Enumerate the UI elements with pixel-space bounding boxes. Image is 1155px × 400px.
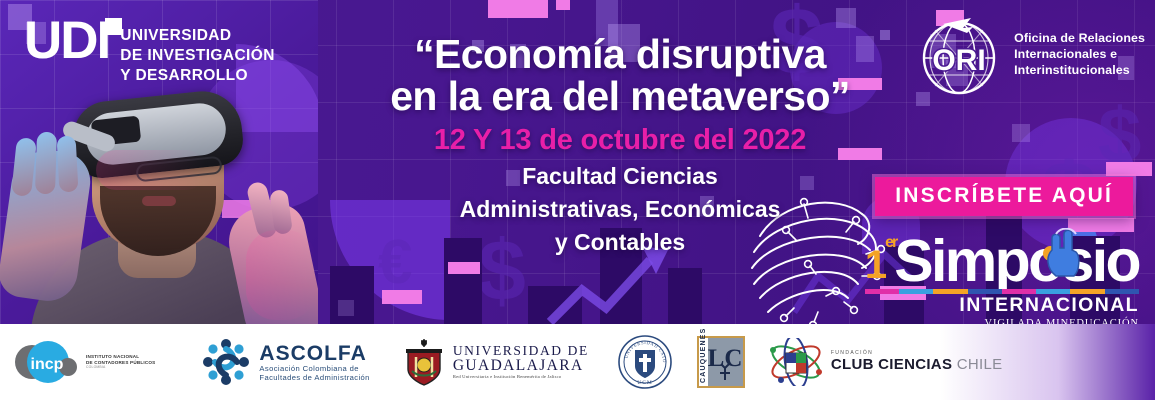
atom-icon: [767, 338, 825, 386]
faculty-line-2: Administrativas, Económicas: [360, 196, 880, 223]
decor-pink-bar: [382, 290, 422, 304]
title-line-1: “Economía disruptiva: [360, 34, 880, 76]
decor-pink-bar: [556, 0, 570, 10]
udi-name-line2: DE INVESTIGACIÓN: [120, 46, 275, 66]
udi-letters: UDI: [24, 11, 109, 70]
faculty-line-1: Facultad Ciencias: [360, 163, 880, 190]
guadalajara-name-line2: GUADALAJARA: [453, 358, 589, 374]
ascolfa-mark: [201, 337, 251, 387]
decor-pink-bar: [488, 0, 548, 18]
incp-mark: incp: [14, 339, 80, 385]
ascolfa-name-line2: Facultades de Administración: [259, 374, 369, 382]
ori-name: Oficina de Relaciones Internacionales e …: [1014, 30, 1145, 78]
event-title-block: “Economía disruptiva en la era del metav…: [360, 34, 880, 256]
hand-cursor-icon: [1040, 228, 1086, 280]
decor-square: [836, 8, 856, 28]
incp-name-line3: COLOMBIA: [86, 365, 155, 369]
udi-wordmark: UDI: [24, 16, 109, 66]
globe-airplane-icon: ORI: [913, 8, 1005, 100]
cauquenes-vertical-text: CAUQUENES: [699, 338, 708, 386]
decor-block-1: [330, 266, 374, 326]
sponsor-logo-ucm[interactable]: UNIVERSIDAD CATÓLICA DEL MAULE UCM: [617, 334, 673, 390]
guadalajara-name-line1: UNIVERSIDAD DE: [453, 344, 589, 358]
register-button[interactable]: INSCRÍBETE AQUÍ: [875, 177, 1133, 216]
decor-square: [880, 30, 890, 40]
sponsor-logo-bar: incp INSTITUTO NACIONAL DE CONTADORES PÚ…: [0, 324, 1155, 400]
title-line-2: en la era del metaverso”: [360, 76, 880, 118]
event-date: 12 Y 13 de octubre del 2022: [360, 124, 880, 157]
svg-text:UCM: UCM: [637, 380, 653, 386]
udi-name-line3: Y DESARROLLO: [120, 66, 275, 86]
ori-logo: ORI Oficina de Relaciones Internacionale…: [913, 8, 1145, 100]
club-ciencias-name-light: CHILE: [957, 356, 1003, 373]
sponsor-logo-ascolfa[interactable]: ASCOLFA Asociación Colombiana de Faculta…: [201, 337, 369, 387]
cauquenes-crest-icon: CAUQUENES LC: [697, 336, 745, 388]
udi-square-accent: [105, 18, 122, 35]
club-ciencias-name-bold: CLUB CIENCIAS: [831, 356, 952, 373]
decor-pink-bar: [448, 262, 480, 274]
udi-name: UNIVERSIDAD DE INVESTIGACIÓN Y DESARROLL…: [120, 16, 275, 85]
sponsor-logo-cauquenes[interactable]: CAUQUENES LC: [697, 336, 745, 388]
simposio-subtitle-wrap: INTERNACIONAL: [865, 289, 1139, 317]
svg-text:incp: incp: [31, 356, 64, 373]
ucm-seal-icon: UNIVERSIDAD CATÓLICA DEL MAULE UCM: [617, 334, 673, 390]
simposio-logo: 1er Simposio INTERNACIONAL VIGILADA MINE…: [865, 236, 1139, 329]
decor-pink-bar: [1106, 162, 1152, 176]
udi-logo: UDI UNIVERSIDAD DE INVESTIGACIÓN Y DESAR…: [24, 16, 275, 85]
simposio-wordmark: Simposio: [894, 236, 1139, 287]
sponsor-logo-incp[interactable]: incp INSTITUTO NACIONAL DE CONTADORES PÚ…: [14, 339, 155, 385]
ori-name-line2: Internacionales e: [1014, 46, 1145, 62]
ascolfa-wordmark: ASCOLFA: [259, 342, 369, 365]
simposio-word-text: Simposio: [894, 228, 1139, 294]
faculty-line-3: y Contables: [360, 229, 880, 256]
udi-name-line1: UNIVERSIDAD: [120, 26, 275, 46]
ori-name-line1: Oficina de Relaciones: [1014, 30, 1145, 46]
svg-text:ORI: ORI: [932, 44, 985, 77]
sponsor-logo-club-ciencias-chile[interactable]: FUNDACIÓN CLUB CIENCIAS CHILE: [767, 338, 1003, 386]
sponsor-logo-guadalajara[interactable]: UNIVERSIDAD DE GUADALAJARA Red Universit…: [402, 337, 589, 387]
guadalajara-crest-icon: [402, 337, 446, 387]
decor-square: [338, 300, 354, 316]
decor-square: [1012, 124, 1030, 142]
ori-name-line3: Interinstitucionales: [1014, 62, 1145, 78]
simposio-ordinal: 1er: [865, 249, 896, 281]
simposio-color-strip: [865, 289, 1139, 294]
guadalajara-name-line3: Red Universitaria e Institución Beneméri…: [453, 375, 589, 380]
event-promo-banner: $ $ $ € Φ: [0, 0, 1155, 400]
simposio-subtitle: INTERNACIONAL: [959, 294, 1139, 316]
